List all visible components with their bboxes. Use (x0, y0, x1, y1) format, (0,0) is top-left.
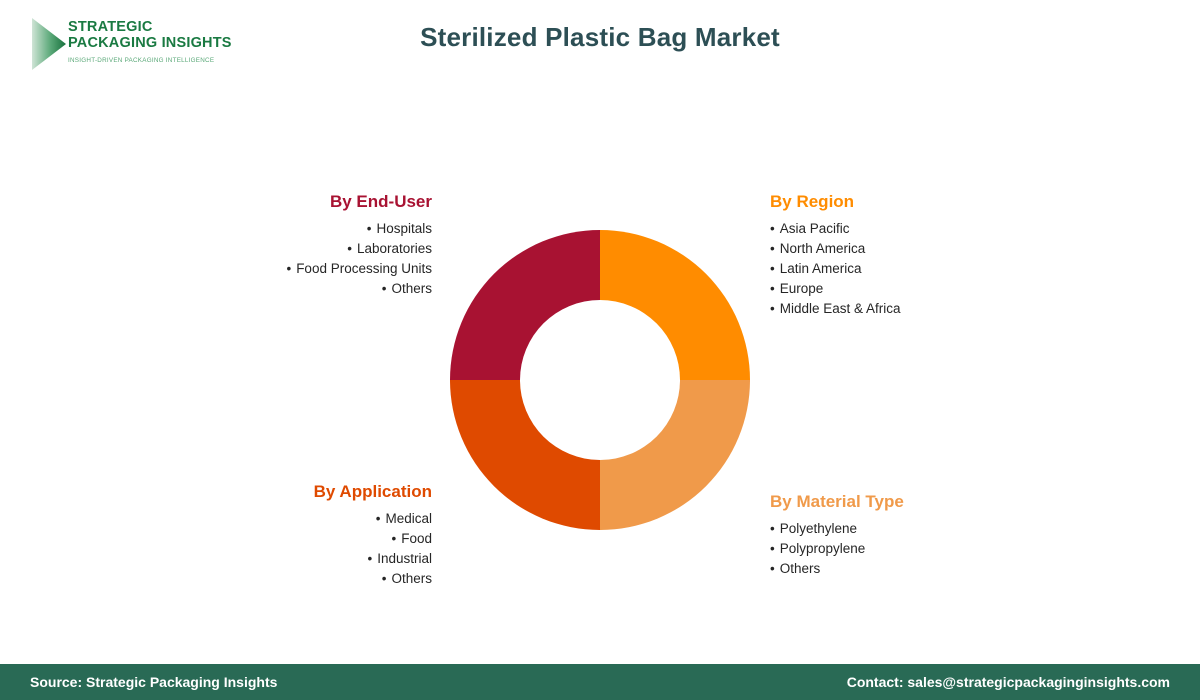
list-item: Industrial (88, 549, 432, 569)
segment-list-application: Medical Food Industrial Others (88, 509, 432, 589)
list-item: Others (770, 559, 1114, 579)
segment-title-material-type: By Material Type (770, 492, 1114, 512)
list-item: Middle East & Africa (770, 299, 1114, 319)
logo-tagline: INSIGHT-DRIVEN PACKAGING INTELLIGENCE (68, 57, 228, 64)
segment-block-application: By Application Medical Food Industrial O… (88, 482, 432, 589)
list-item: Asia Pacific (770, 219, 1114, 239)
list-item: Europe (770, 279, 1114, 299)
footer-source: Source: Strategic Packaging Insights (30, 674, 277, 690)
list-item: Polypropylene (770, 539, 1114, 559)
list-item: Food (88, 529, 432, 549)
footer-contact-email[interactable]: Contact: sales@strategicpackaginginsight… (847, 674, 1170, 690)
segment-block-material-type: By Material Type Polyethylene Polypropyl… (770, 492, 1114, 579)
list-item: Latin America (770, 259, 1114, 279)
segment-block-region: By Region Asia Pacific North America Lat… (770, 192, 1114, 319)
segment-title-application: By Application (88, 482, 432, 502)
segment-title-end-user: By End-User (88, 192, 432, 212)
list-item: Food Processing Units (88, 259, 432, 279)
list-item: Others (88, 569, 432, 589)
list-item: Hospitals (88, 219, 432, 239)
donut-center-hole (520, 300, 680, 460)
segment-list-region: Asia Pacific North America Latin America… (770, 219, 1114, 319)
list-item: Laboratories (88, 239, 432, 259)
segment-list-end-user: Hospitals Laboratories Food Processing U… (88, 219, 432, 299)
page-title: Sterilized Plastic Bag Market (0, 22, 1200, 53)
list-item: Medical (88, 509, 432, 529)
segment-list-material-type: Polyethylene Polypropylene Others (770, 519, 1114, 579)
segment-title-region: By Region (770, 192, 1114, 212)
list-item: Polyethylene (770, 519, 1114, 539)
segment-block-end-user: By End-User Hospitals Laboratories Food … (88, 192, 432, 299)
footer-bar: Source: Strategic Packaging Insights Con… (0, 664, 1200, 700)
list-item: North America (770, 239, 1114, 259)
list-item: Others (88, 279, 432, 299)
donut-chart (450, 230, 750, 530)
